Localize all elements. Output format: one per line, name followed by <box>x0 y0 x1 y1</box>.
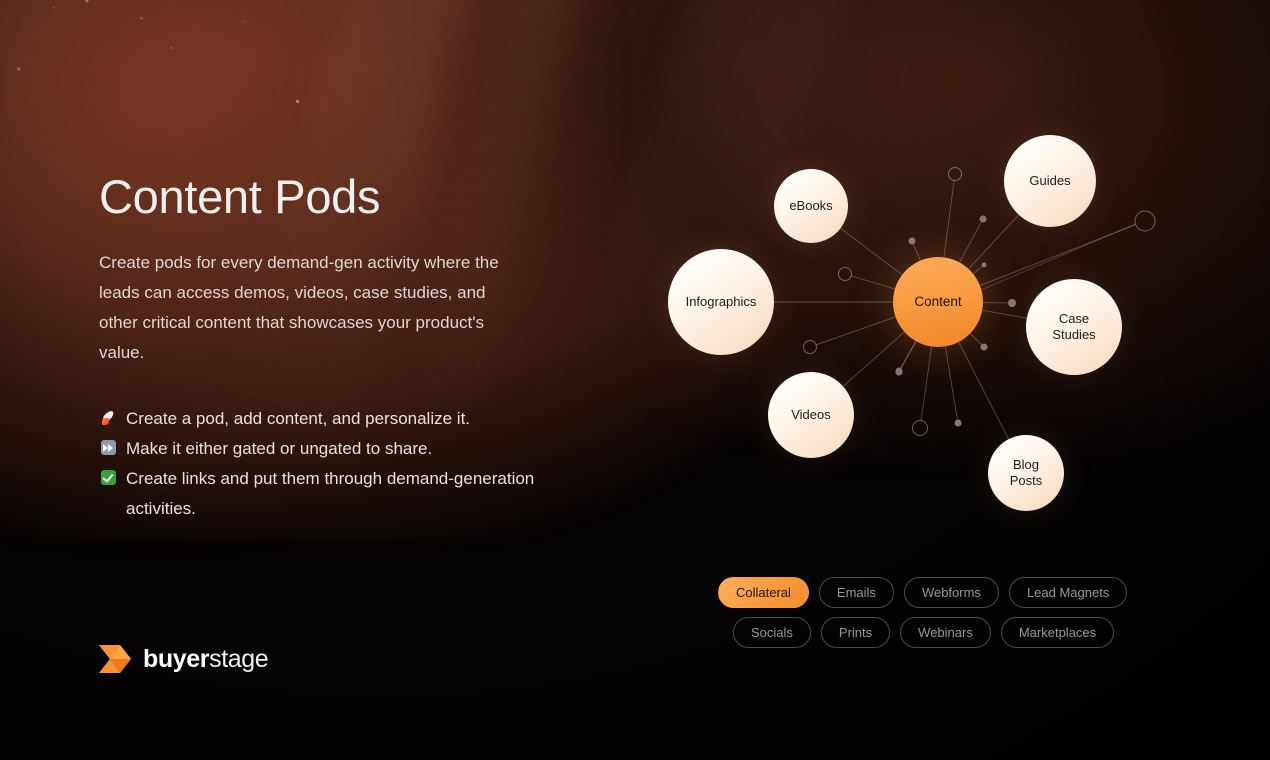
graph-edge <box>901 341 916 368</box>
logo-word-bold: buyer <box>143 645 209 673</box>
list-item-label: Make it either gated or ungated to share… <box>126 434 539 464</box>
node-label: CaseStudies <box>1052 311 1095 343</box>
filter-pill-prints[interactable]: Prints <box>821 617 890 648</box>
graph-edge <box>982 310 1027 318</box>
rocket-emoji-icon <box>99 404 117 434</box>
node-label: Infographics <box>686 294 757 310</box>
graph-ring-marker <box>804 341 817 354</box>
filter-pill-lead-magnets[interactable]: Lead Magnets <box>1009 577 1127 608</box>
graph-edge <box>843 332 904 387</box>
filter-pill-webinars[interactable]: Webinars <box>900 617 991 648</box>
graph-ring-marker <box>949 168 962 181</box>
star-particles <box>0 0 300 150</box>
graph-ring-marker <box>839 268 852 281</box>
graph-dot-marker <box>981 344 988 351</box>
logo-word-light: stage <box>209 645 268 673</box>
buyerstage-chevron-icon <box>98 643 132 675</box>
graph-center-node-content[interactable]: Content <box>893 257 983 347</box>
node-label: BlogPosts <box>1010 457 1043 489</box>
graph-edge <box>981 224 1135 290</box>
graph-dot-marker <box>980 216 987 223</box>
graph-dot-marker <box>909 238 916 245</box>
graph-node-guides[interactable]: Guides <box>1004 135 1096 227</box>
graph-dot-marker <box>896 369 903 376</box>
fast-forward-emoji-icon <box>99 434 117 464</box>
list-item: Create a pod, add content, and personali… <box>99 404 539 434</box>
graph-ring-marker <box>913 421 928 436</box>
logo-wordmark: buyerstage <box>143 645 268 674</box>
graph-node-videos[interactable]: Videos <box>768 372 854 458</box>
graph-edge <box>913 244 920 260</box>
graph-edge <box>921 347 932 421</box>
graph-dot-marker <box>982 263 987 268</box>
node-label: Guides <box>1029 173 1070 189</box>
graph-edge <box>901 341 916 369</box>
graph-node-ebooks[interactable]: eBooks <box>774 169 848 243</box>
graph-node-infographics[interactable]: Infographics <box>668 249 774 355</box>
graph-edge <box>816 317 895 345</box>
graph-edge <box>973 267 982 274</box>
filter-pill-webforms[interactable]: Webforms <box>904 577 999 608</box>
graph-edge <box>959 342 1009 439</box>
list-item: Make it either gated or ungated to share… <box>99 434 539 464</box>
graph-dot-marker <box>955 420 962 427</box>
category-filter-group: Collateral Emails Webforms Lead Magnets … <box>718 577 1138 657</box>
graph-edge <box>959 222 981 262</box>
node-label: Content <box>914 294 961 310</box>
filter-pill-emails[interactable]: Emails <box>819 577 894 608</box>
filter-pill-collateral[interactable]: Collateral <box>718 577 809 608</box>
graph-edge <box>969 215 1019 269</box>
graph-edge <box>841 228 903 275</box>
feature-bullet-list: Create a pod, add content, and personali… <box>99 404 539 524</box>
graph-ring-marker <box>1135 211 1155 231</box>
buyerstage-logo[interactable]: buyerstage <box>98 643 268 675</box>
graph-dot-marker <box>1008 299 1016 307</box>
list-item-label: Create links and put them through demand… <box>126 464 539 524</box>
list-item: Create links and put them through demand… <box>99 464 539 524</box>
graph-dot-marker <box>896 368 903 375</box>
hero-description: Create pods for every demand-gen activit… <box>99 248 524 368</box>
graph-edge <box>851 276 895 289</box>
background-glow-secondary <box>430 0 1270 460</box>
hero-stage: Content Pods Create pods for every deman… <box>0 0 1270 760</box>
graph-node-case-studies[interactable]: CaseStudies <box>1026 279 1122 375</box>
graph-edge <box>945 346 957 419</box>
filter-row-2: Socials Prints Webinars Marketplaces <box>718 617 1138 648</box>
list-item-label: Create a pod, add content, and personali… <box>126 404 539 434</box>
page-title: Content Pods <box>99 168 539 226</box>
filter-pill-marketplaces[interactable]: Marketplaces <box>1001 617 1114 648</box>
filter-row-1: Collateral Emails Webforms Lead Magnets <box>718 577 1138 608</box>
node-label: eBooks <box>789 198 832 214</box>
check-mark-emoji-icon <box>99 464 117 494</box>
graph-edge <box>980 225 1136 286</box>
filter-pill-socials[interactable]: Socials <box>733 617 811 648</box>
graph-edge <box>944 180 954 257</box>
hero-copy: Content Pods Create pods for every deman… <box>99 168 539 524</box>
node-label: Videos <box>791 407 831 423</box>
graph-edge <box>970 333 981 344</box>
graph-node-blog-posts[interactable]: BlogPosts <box>988 435 1064 511</box>
